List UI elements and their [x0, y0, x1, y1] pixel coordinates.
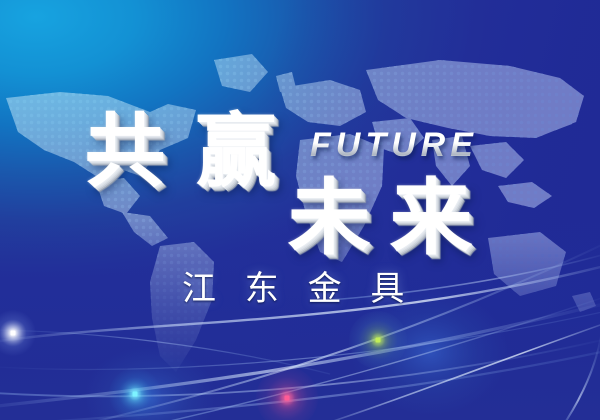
- background-gradient-bottom: [0, 0, 600, 420]
- promo-banner: 共 赢 FUTURE 未 来 江 东 金 具: [0, 0, 600, 420]
